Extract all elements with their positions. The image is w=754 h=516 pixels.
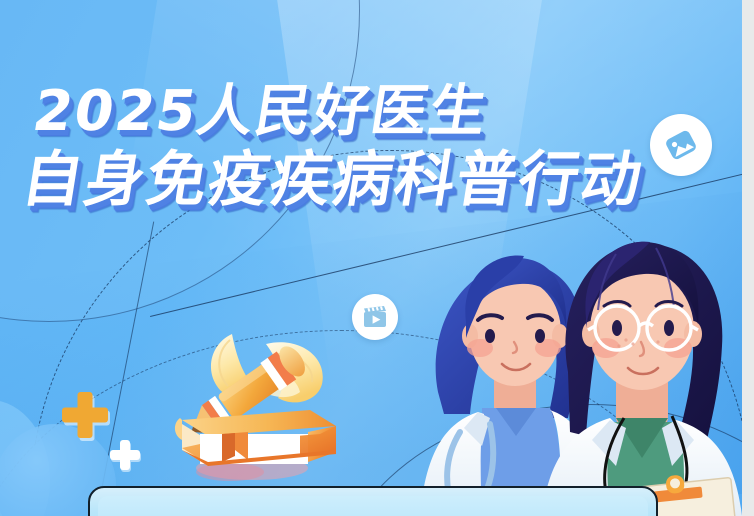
bottom-card-panel [88, 486, 658, 516]
video-clapperboard-icon [360, 302, 390, 332]
bottom-card-inner [98, 496, 648, 516]
right-edge-strip [742, 0, 754, 516]
poster-stage: 2025人民好医生 自身免疫疾病科普行动 [0, 0, 754, 516]
plus-icon-orange [62, 392, 108, 438]
title-line-1: 2025人民好医生 [29, 84, 658, 140]
plus-icon-white [110, 440, 140, 470]
image-badge[interactable] [650, 114, 712, 176]
doctor-right [542, 242, 742, 516]
pencil-and-book-illustration [160, 300, 350, 490]
image-icon [661, 125, 701, 165]
title-line-2: 自身免疫疾病科普行动 [18, 150, 648, 210]
poster-title: 2025人民好医生 自身免疫疾病科普行动 [18, 84, 658, 210]
doctors-illustration [420, 222, 742, 516]
video-badge[interactable] [352, 294, 398, 340]
